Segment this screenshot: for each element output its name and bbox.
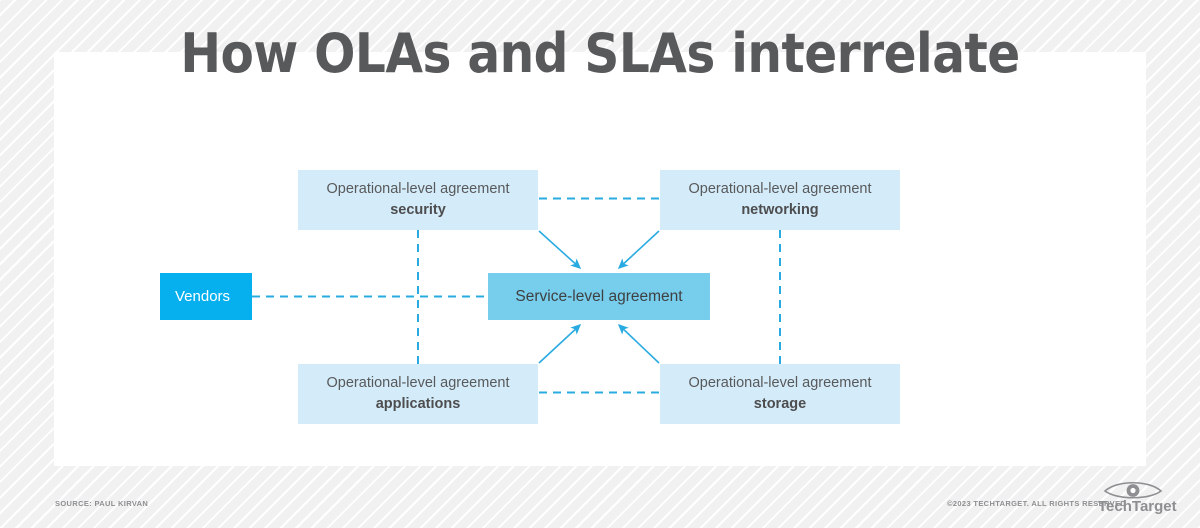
node-vendors: Vendors bbox=[160, 273, 252, 320]
node-label-line2: security bbox=[390, 200, 446, 221]
node-label-line1: Operational-level agreement bbox=[327, 179, 510, 200]
node-label-line2: storage bbox=[754, 394, 806, 415]
content-card bbox=[54, 52, 1146, 466]
node-ola-storage: Operational-level agreement storage bbox=[660, 364, 900, 424]
node-label: Vendors bbox=[175, 286, 230, 307]
node-label-line2: applications bbox=[376, 394, 461, 415]
node-ola-security: Operational-level agreement security bbox=[298, 170, 538, 230]
node-label: Service-level agreement bbox=[515, 286, 682, 308]
eye-icon bbox=[1105, 483, 1161, 498]
node-label-line1: Operational-level agreement bbox=[689, 179, 872, 200]
node-ola-applications: Operational-level agreement applications bbox=[298, 364, 538, 424]
node-service-level-agreement: Service-level agreement bbox=[488, 273, 710, 320]
logo-wordmark: TechTarget bbox=[1098, 498, 1177, 515]
techtarget-logo: TechTarget bbox=[1097, 478, 1181, 518]
node-ola-networking: Operational-level agreement networking bbox=[660, 170, 900, 230]
node-label-line1: Operational-level agreement bbox=[327, 373, 510, 394]
node-label-line1: Operational-level agreement bbox=[689, 373, 872, 394]
source-attribution: SOURCE: PAUL KIRVAN bbox=[55, 499, 148, 508]
node-label-line2: networking bbox=[741, 200, 818, 221]
page-title: How OLAs and SLAs interrelate bbox=[0, 22, 1200, 85]
